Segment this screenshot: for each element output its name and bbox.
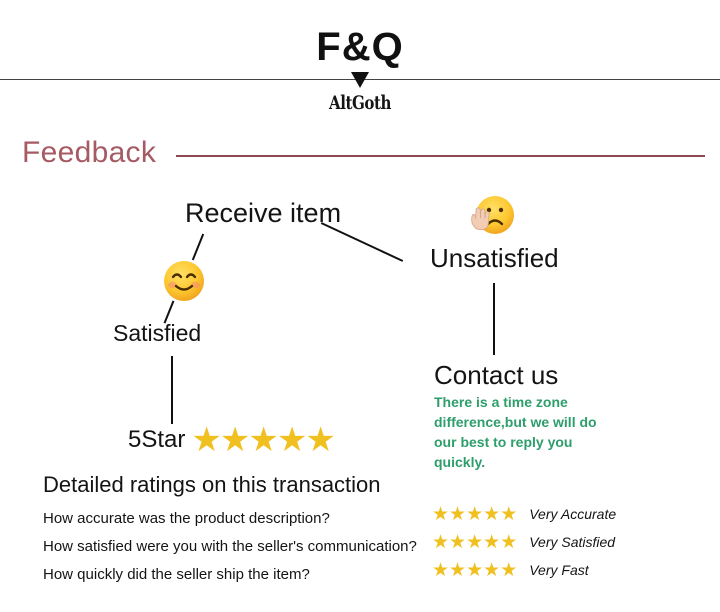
- detailed-ratings-heading: Detailed ratings on this transaction: [43, 472, 381, 498]
- triangle-down-icon: [351, 72, 369, 88]
- star-icon: ★: [449, 533, 466, 552]
- rating-result-row: ★★★★★Very Accurate: [432, 500, 616, 528]
- star-icon: ★: [432, 561, 449, 580]
- connector-satisfied-to-five-star: [171, 356, 173, 424]
- flow-node-contact-us: Contact us: [434, 360, 558, 391]
- rating-stars: ★★★★★: [432, 505, 517, 524]
- rating-stars: ★★★★★: [432, 561, 517, 580]
- rating-result-label: Very Fast: [529, 562, 588, 578]
- rating-question: How accurate was the product description…: [43, 505, 423, 533]
- star-icon: ★: [466, 533, 483, 552]
- rating-result-label: Very Accurate: [529, 506, 616, 522]
- five-star-label: 5Star: [128, 426, 185, 454]
- star-icon: ★: [191, 423, 221, 457]
- flow-node-satisfied: Satisfied: [113, 320, 201, 347]
- star-icon: ★: [305, 423, 335, 457]
- connector-receive-to-satisfied: [192, 234, 204, 261]
- detailed-ratings-questions: How accurate was the product description…: [43, 505, 423, 589]
- rating-stars: ★★★★★: [432, 533, 517, 552]
- flow-node-unsatisfied: Unsatisfied: [430, 243, 559, 274]
- rating-question: How satisfied were you with the seller's…: [43, 533, 423, 561]
- star-icon: ★: [500, 505, 517, 524]
- rating-result-row: ★★★★★Very Fast: [432, 556, 616, 584]
- smiling-face-emoji: [163, 260, 205, 302]
- rating-result-row: ★★★★★Very Satisfied: [432, 528, 616, 556]
- feedback-divider: [176, 155, 705, 157]
- star-icon: ★: [466, 561, 483, 580]
- connector-receive-to-unsatisfied: [321, 222, 403, 262]
- rating-question: How quickly did the seller ship the item…: [43, 561, 423, 589]
- star-icon: ★: [248, 423, 278, 457]
- detailed-ratings-results: ★★★★★Very Accurate★★★★★Very Satisfied★★★…: [432, 500, 616, 584]
- star-icon: ★: [483, 505, 500, 524]
- faq-feedback-page: F&Q AltGoth Feedback Receive item Satisf…: [0, 0, 720, 612]
- contact-timezone-note: There is a time zone difference,but we w…: [434, 392, 604, 472]
- feedback-heading: Feedback: [22, 136, 156, 170]
- connector-unsatisfied-to-contact: [493, 283, 495, 355]
- flow-node-receive-item: Receive item: [185, 198, 341, 229]
- page-title: F&Q: [0, 24, 720, 70]
- five-star-row: 5Star ★★★★★: [128, 423, 334, 457]
- star-icon: ★: [432, 533, 449, 552]
- star-icon: ★: [466, 505, 483, 524]
- brand-logo: AltGoth: [43, 92, 677, 114]
- star-icon: ★: [483, 533, 500, 552]
- star-icon: ★: [449, 561, 466, 580]
- rating-result-label: Very Satisfied: [529, 534, 615, 550]
- star-icon: ★: [449, 505, 466, 524]
- star-icon: ★: [500, 561, 517, 580]
- star-icon: ★: [277, 423, 307, 457]
- star-icon: ★: [483, 561, 500, 580]
- star-icon: ★: [432, 505, 449, 524]
- five-star-rating: ★★★★★: [191, 423, 333, 457]
- star-icon: ★: [500, 533, 517, 552]
- frowning-face-with-raised-hand-emoji: [468, 193, 516, 241]
- star-icon: ★: [220, 423, 250, 457]
